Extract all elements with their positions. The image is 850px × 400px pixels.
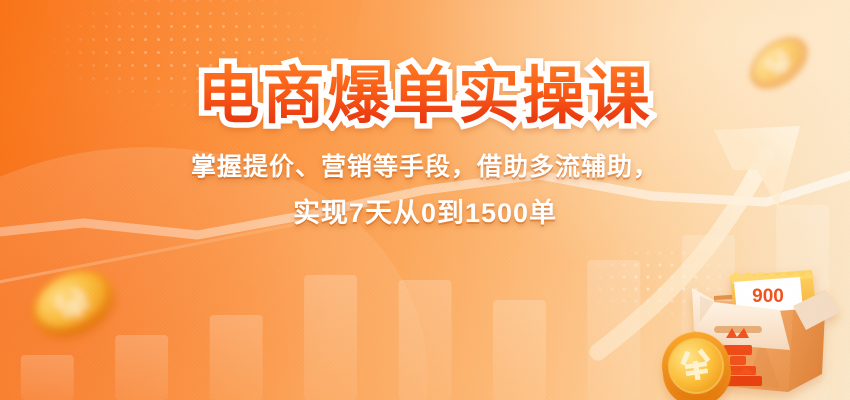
chart-bar [399, 280, 452, 400]
background-glow [0, 0, 850, 400]
background-swoosh-left [0, 91, 475, 400]
decorative-art: 900 [0, 0, 850, 400]
subtitle-line-1: 掌握提价、营销等手段，借助多流辅助， [191, 147, 659, 183]
yuan-coin-gold-icon [658, 328, 736, 400]
halftone-dots-right [570, 235, 760, 325]
page-title-fill: 电商爆单实操课 [197, 62, 652, 131]
subtitle-line-2: 实现7天从0到1500单 [293, 191, 557, 230]
gift-ribbon-icon [700, 328, 762, 386]
course-promo-banner: 电商爆单实操课 电商爆单实操课 掌握提价、营销等手段，借助多流辅助， 实现7天从… [0, 0, 850, 400]
chart-bar [115, 335, 168, 400]
chart-bar [776, 205, 829, 400]
chart-trend-line [0, 166, 850, 235]
chart-bar [493, 300, 546, 400]
chart-bar [587, 260, 640, 400]
yuan-coin-blurred-topright-icon [740, 26, 818, 100]
headline-block: 电商爆单实操课 电商爆单实操课 掌握提价、营销等手段，借助多流辅助， 实现7天从… [0, 0, 850, 400]
chart-bar [682, 235, 735, 400]
texture-overlay [0, 0, 850, 400]
page-title: 电商爆单实操课 电商爆单实操课 [197, 62, 652, 131]
growth-arrow-icon [598, 126, 800, 352]
background-swoosh-right [350, 0, 850, 400]
chart-bar [21, 355, 74, 400]
page-title-stroke: 电商爆单实操课 [197, 62, 652, 131]
yuan-coin-blurred-left-icon [21, 257, 127, 353]
receipt-value: 900 [752, 286, 784, 307]
chart-bars [21, 205, 829, 400]
chart-bar [210, 315, 263, 400]
open-cardboard-box-icon: 900 [692, 270, 840, 392]
halftone-dots-topleft [48, 0, 378, 114]
diagonal-accent-line [0, 204, 392, 295]
background-growth-chart [0, 0, 850, 400]
chart-bar [304, 275, 357, 400]
